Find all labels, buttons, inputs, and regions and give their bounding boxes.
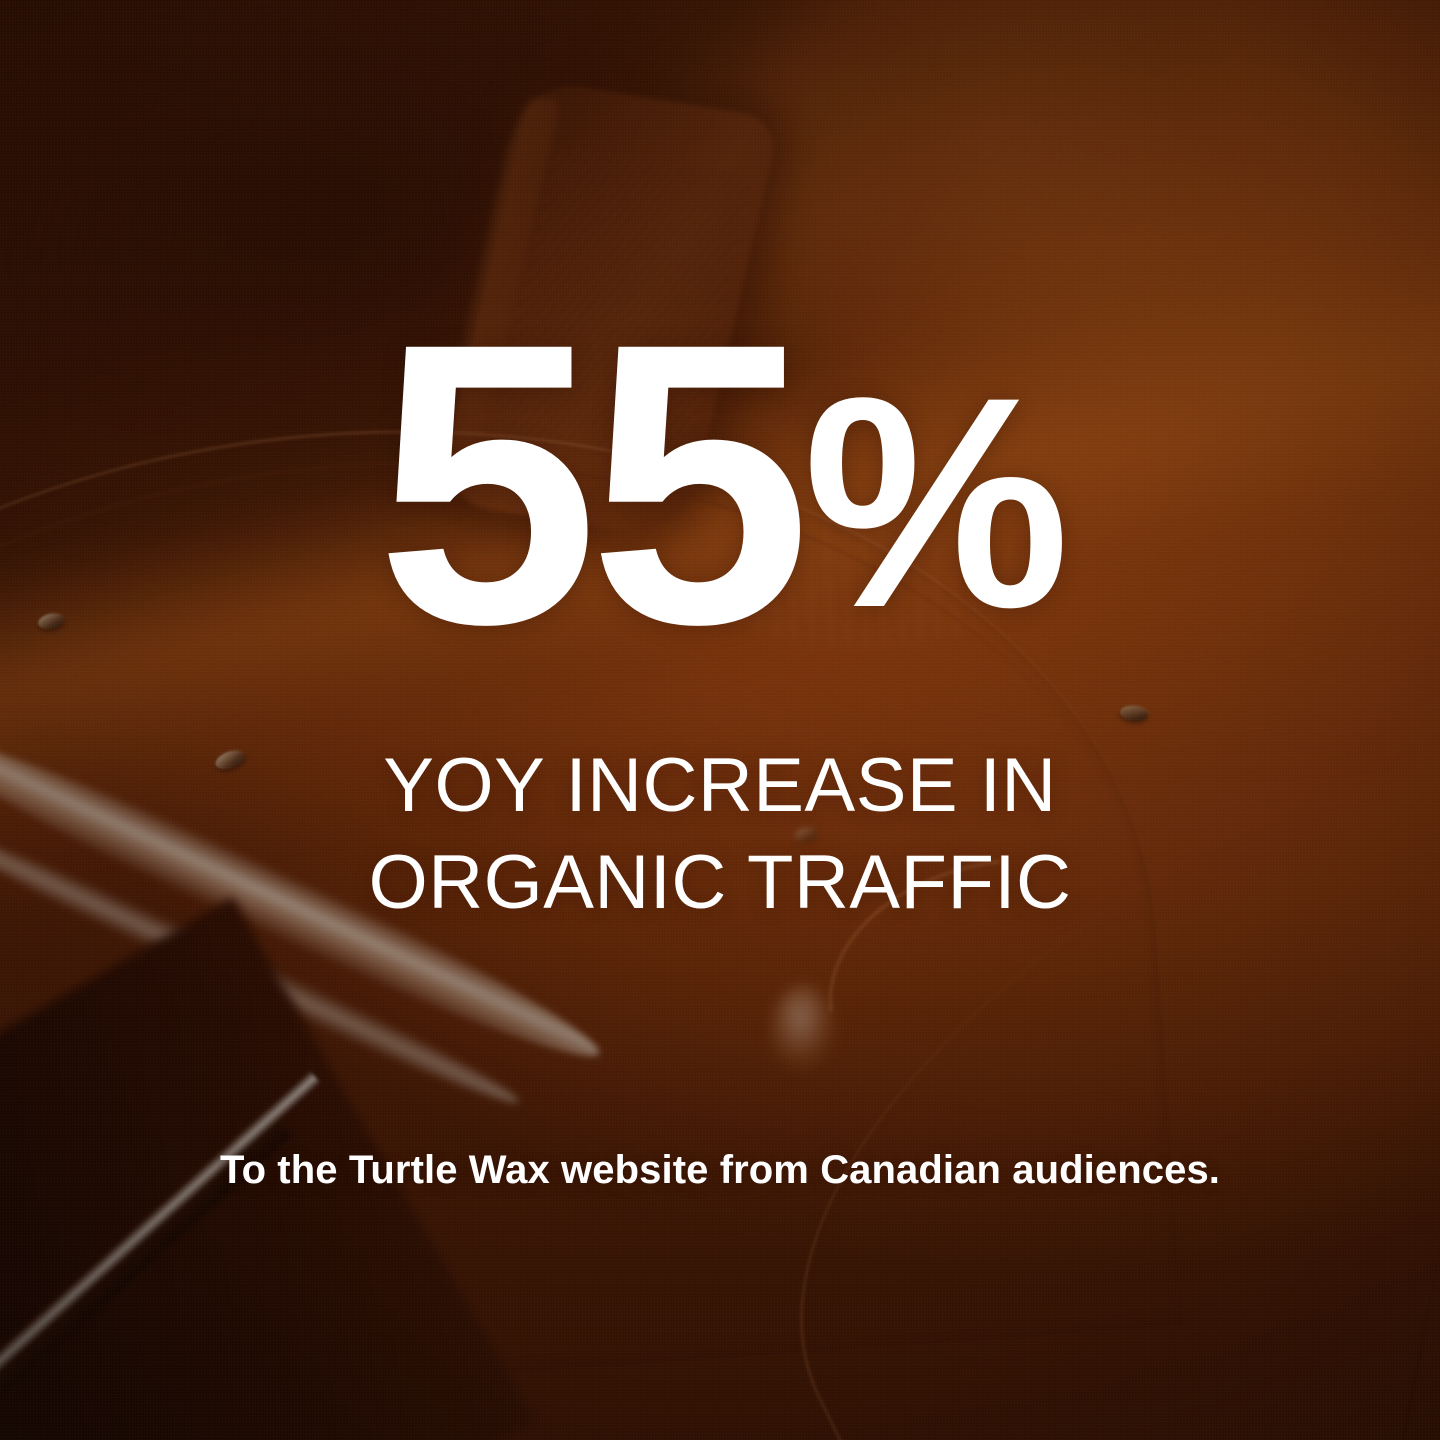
- stat-value: 55: [376, 260, 801, 707]
- stat-content: 55% YOY INCREASE IN ORGANIC TRAFFIC To t…: [0, 0, 1440, 1440]
- stat-unit: %: [803, 334, 1066, 670]
- headline-line-1: YOY INCREASE IN: [0, 738, 1440, 835]
- caption: To the Turtle Wax website from Canadian …: [0, 1144, 1440, 1196]
- stat-figure: 55%: [0, 320, 1440, 648]
- headline-line-2: ORGANIC TRAFFIC: [0, 835, 1440, 932]
- headline: YOY INCREASE IN ORGANIC TRAFFIC: [0, 738, 1440, 931]
- stat-card: 55% YOY INCREASE IN ORGANIC TRAFFIC To t…: [0, 0, 1440, 1440]
